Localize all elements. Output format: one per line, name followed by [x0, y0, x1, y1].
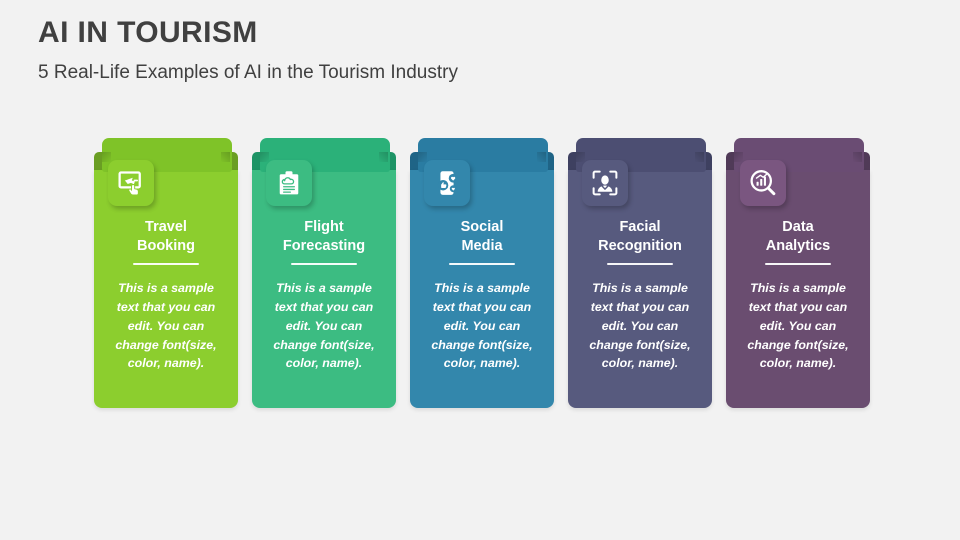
card-text-block: FacialRecognitionThis is a sample text t…	[568, 218, 712, 373]
band-shadow-right	[853, 152, 862, 162]
card-title-line1: Travel	[145, 219, 187, 235]
band-shadow-right	[221, 152, 230, 162]
page-subtitle: 5 Real-Life Examples of AI in the Touris…	[38, 63, 458, 84]
page-title: AI IN TOURISM	[38, 16, 458, 49]
card-title-line2: Analytics	[766, 238, 830, 254]
feature-card[interactable]: SocialMediaThis is a sample text that yo…	[410, 138, 554, 408]
card-description: This is a sample text that you can edit.…	[261, 279, 387, 373]
card-divider	[607, 263, 673, 265]
slide-canvas: AI IN TOURISM 5 Real-Life Examples of AI…	[0, 0, 960, 540]
band-shadow-right	[537, 152, 546, 162]
band-shadow-right	[695, 152, 704, 162]
card-title-line1: Facial	[619, 219, 660, 235]
card-text-block: FlightForecastingThis is a sample text t…	[252, 218, 396, 373]
card-title-line1: Flight	[304, 219, 343, 235]
card-title-line1: Data	[782, 219, 813, 235]
band-shadow-left	[418, 152, 427, 162]
card-title-line1: Social	[461, 219, 504, 235]
card-description: This is a sample text that you can edit.…	[419, 279, 545, 373]
feature-card[interactable]: FlightForecastingThis is a sample text t…	[252, 138, 396, 408]
card-title-line2: Media	[461, 238, 502, 254]
band-shadow-left	[576, 152, 585, 162]
card-title-line2: Recognition	[598, 238, 682, 254]
card-row: TravelBookingThis is a sample text that …	[94, 138, 870, 408]
card-title: SocialMedia	[419, 218, 545, 255]
band-shadow-right	[379, 152, 388, 162]
card-divider	[765, 263, 831, 265]
card-divider	[449, 263, 515, 265]
feature-card[interactable]: FacialRecognitionThis is a sample text t…	[568, 138, 712, 408]
weather-clipboard-icon[interactable]	[266, 160, 312, 206]
card-text-block: TravelBookingThis is a sample text that …	[94, 218, 238, 373]
card-description: This is a sample text that you can edit.…	[735, 279, 861, 373]
card-text-block: SocialMediaThis is a sample text that yo…	[410, 218, 554, 373]
card-title: TravelBooking	[103, 218, 229, 255]
card-description: This is a sample text that you can edit.…	[103, 279, 229, 373]
online-booking-icon[interactable]	[108, 160, 154, 206]
band-shadow-left	[102, 152, 111, 162]
band-shadow-left	[260, 152, 269, 162]
card-divider	[133, 263, 199, 265]
card-divider	[291, 263, 357, 265]
card-title: FacialRecognition	[577, 218, 703, 255]
feature-card[interactable]: DataAnalyticsThis is a sample text that …	[726, 138, 870, 408]
card-description: This is a sample text that you can edit.…	[577, 279, 703, 373]
slide-header: AI IN TOURISM 5 Real-Life Examples of AI…	[38, 16, 458, 84]
social-phone-like-icon[interactable]	[424, 160, 470, 206]
card-title: FlightForecasting	[261, 218, 387, 255]
card-text-block: DataAnalyticsThis is a sample text that …	[726, 218, 870, 373]
card-title: DataAnalytics	[735, 218, 861, 255]
chart-magnifier-icon[interactable]	[740, 160, 786, 206]
card-title-line2: Forecasting	[283, 238, 365, 254]
card-title-line2: Booking	[137, 238, 195, 254]
face-scan-icon[interactable]	[582, 160, 628, 206]
band-shadow-left	[734, 152, 743, 162]
feature-card[interactable]: TravelBookingThis is a sample text that …	[94, 138, 238, 408]
